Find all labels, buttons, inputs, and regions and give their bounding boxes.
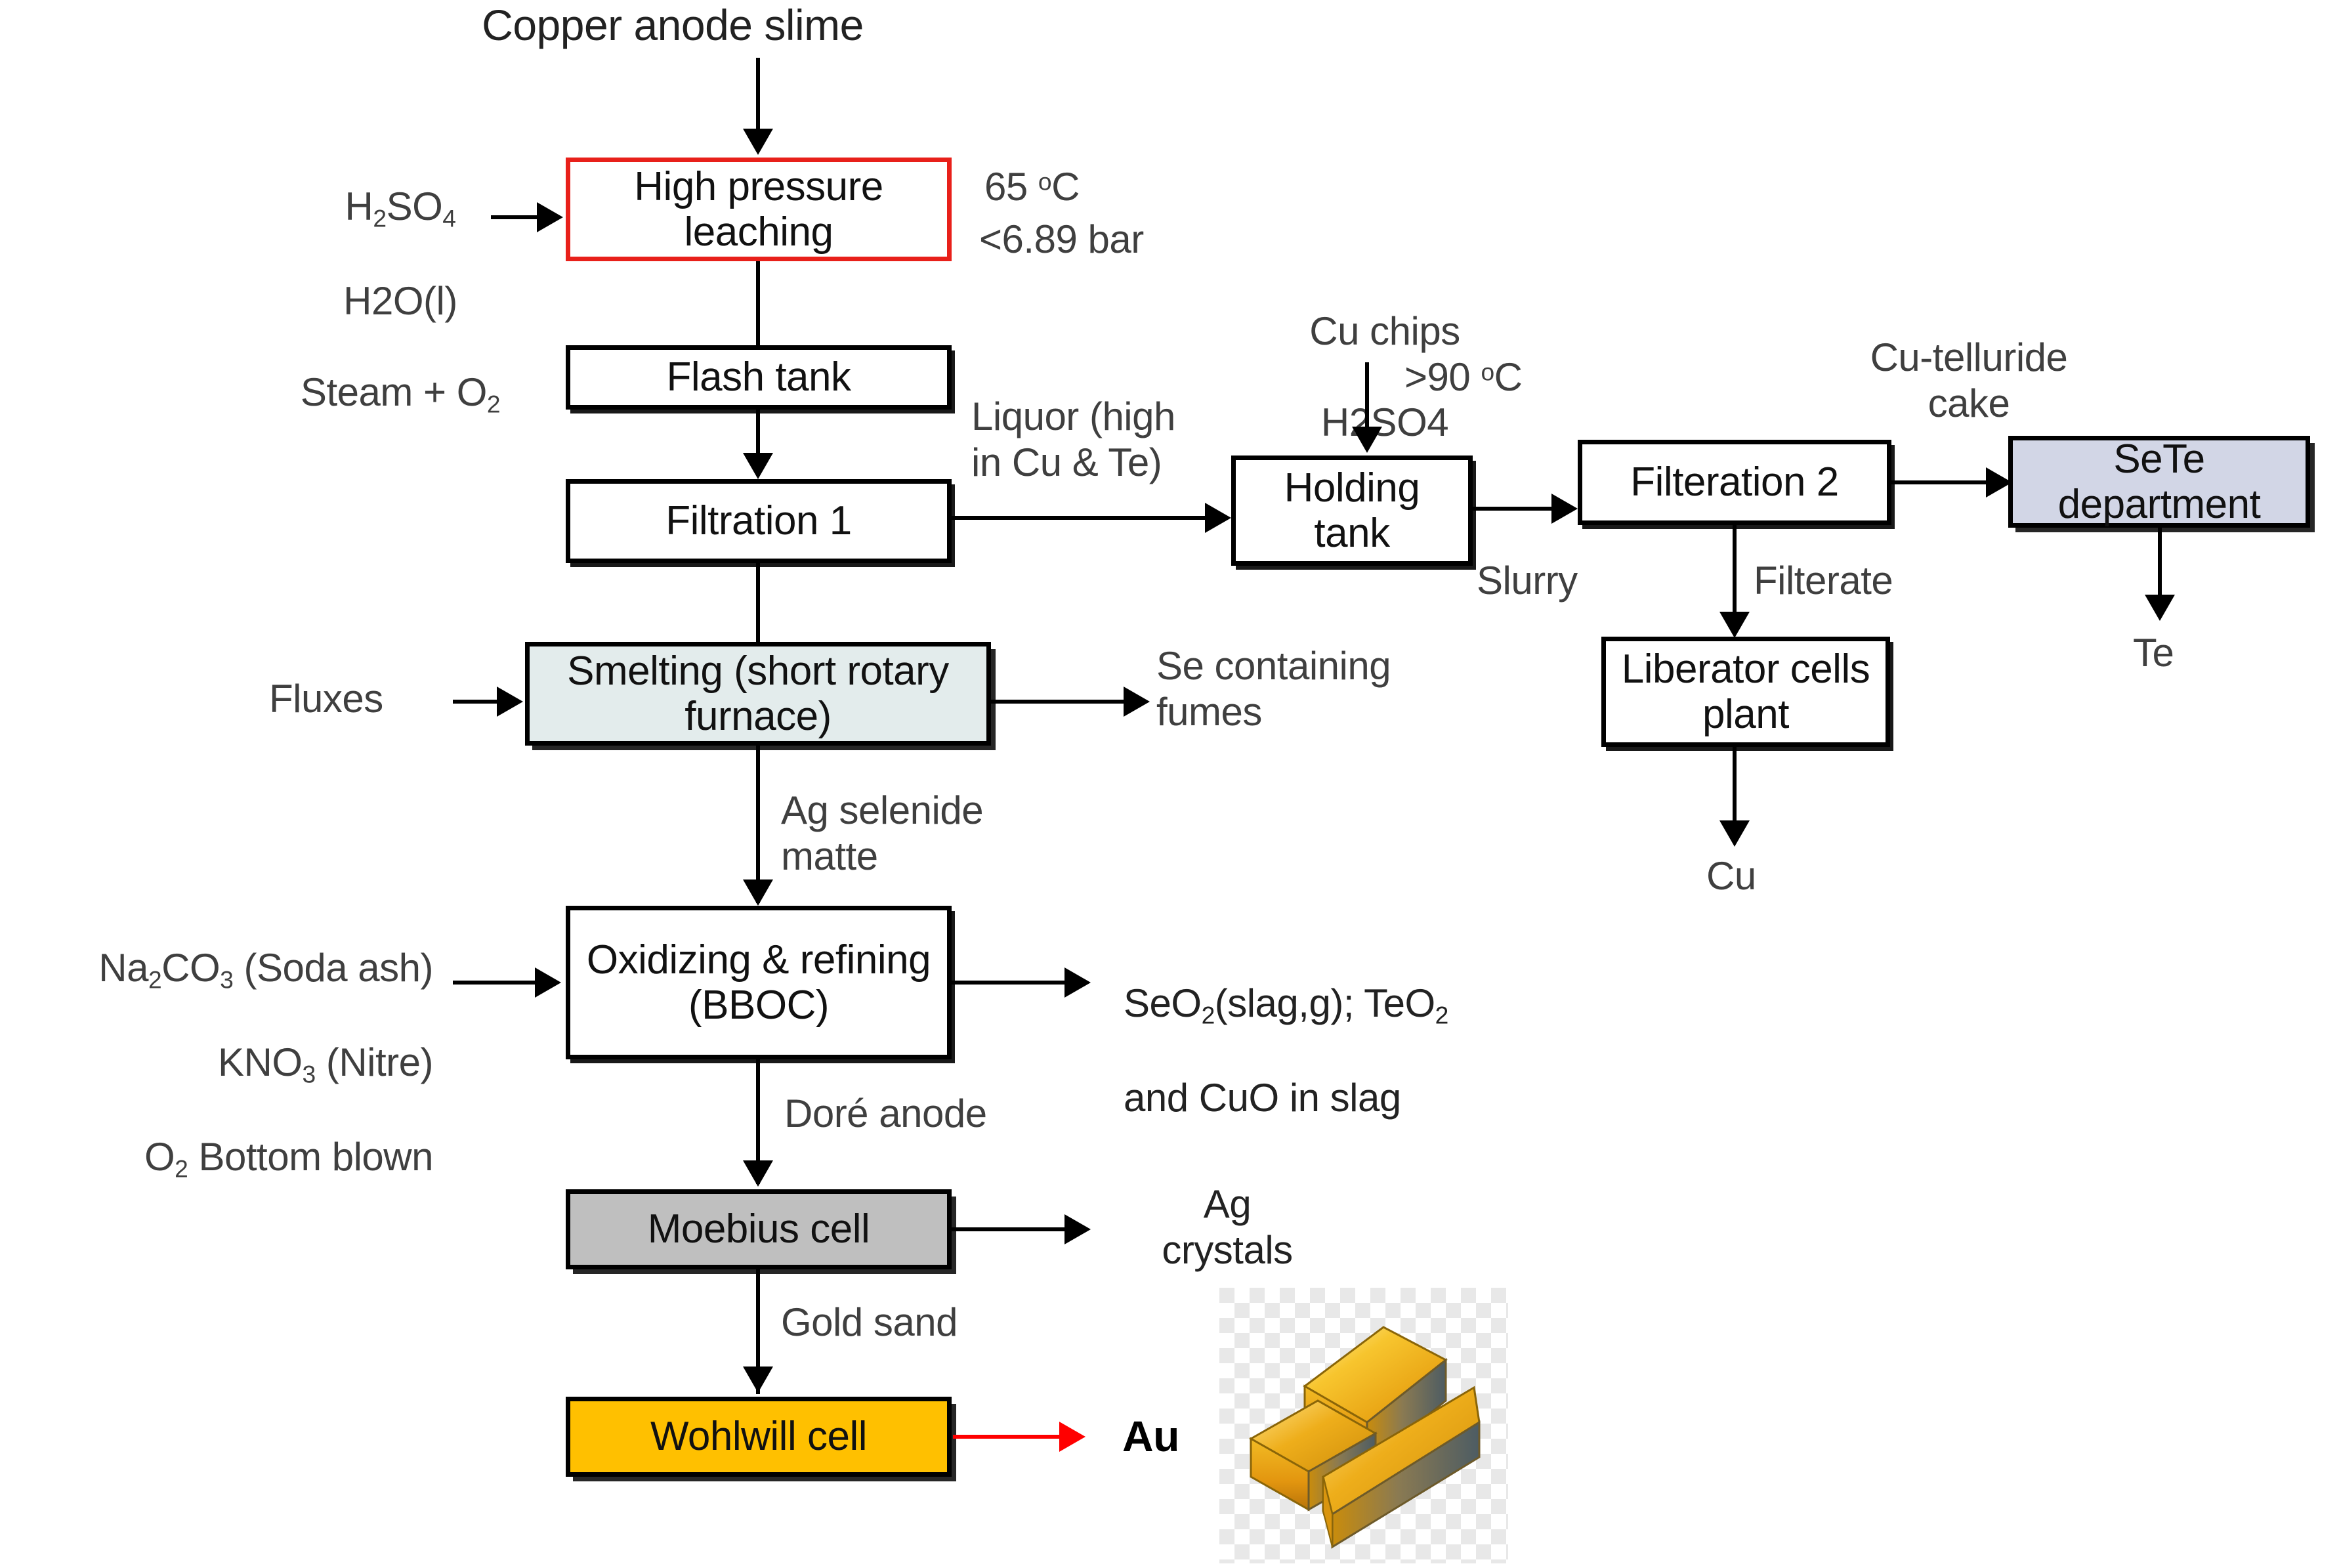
box-filteration-2[interactable]: Filteration 2 [1578,440,1891,525]
stream-gold-sand: Gold sand [781,1300,958,1346]
product-se-containing-fumes: Se containing fumes [1156,643,1498,734]
box-smelting[interactable]: Smelting (short rotary furnace) [525,642,991,746]
stream-filterate: Filterate [1754,558,1893,604]
flowchart-canvas: Copper anode slime High pressure leachin… [0,0,2339,1568]
stream-seo2-line2: and CuO in slag [1124,1075,1583,1121]
box-sete-department-label: SeTe department [2013,436,2306,528]
reagent-h2so4: H2SO4 [263,184,538,233]
stream-seo2-slag: SeO2(slag,g); TeO2 and CuO in slag [1124,935,1583,1166]
reagent-cu-chips: Cu chips [1247,308,1523,354]
connector-moebius-to-ag [952,1227,1070,1231]
arrowhead-moebius-to-wohlwill [743,1367,773,1393]
connector-reagent-to-leaching [491,215,540,219]
box-sete-department[interactable]: SeTe department [2008,436,2310,528]
arrowhead-smelting-to-bboc [743,879,773,906]
reagent-steam-o2: Steam + O2 [263,370,538,419]
stream-dore-anode: Doré anode [784,1091,987,1137]
connector-feed-to-leaching [756,58,760,137]
gold-bars-icon [1219,1288,1508,1563]
arrowhead-reagent-to-leaching [537,202,563,232]
connector-filteration2-to-sete [1891,480,1991,484]
box-filteration-2-label: Filteration 2 [1582,459,1887,505]
reagent-o2-bottom-blown: O2 Bottom blown [13,1134,433,1183]
connector-smelting-to-fumes [991,700,1129,704]
reagent-h2so4-holding: H2SO4 [1247,400,1523,446]
condition-leach-temperature: 65 oC [984,164,1080,210]
stream-liquor-label: Liquor (high in Cu & Te) [971,394,1247,485]
connector-fluxes-to-smelting [453,700,500,704]
product-te: Te [2133,630,2174,676]
box-high-pressure-leaching[interactable]: High pressure leaching [566,158,952,261]
connector-filtration1-to-holding [952,516,1211,520]
product-ag-crystals: Ag crystals [1116,1181,1339,1273]
product-cu: Cu [1706,853,1756,899]
arrowhead-feed-to-leaching [743,129,773,155]
arrowhead-holding-to-filteration2 [1551,494,1578,524]
arrowhead-reagents-to-holding [1352,427,1382,453]
arrowhead-moebius-to-ag [1064,1214,1091,1244]
connector-bboc-reagents [453,981,538,985]
arrowhead-wohlwill-to-au [1059,1422,1085,1452]
box-filtration-1[interactable]: Filtration 1 [566,479,952,563]
box-high-pressure-leaching-label: High pressure leaching [570,164,947,255]
arrowhead-fluxes-to-smelting [497,687,523,717]
arrowhead-bboc-to-moebius [743,1160,773,1187]
reagent-soda-ash: Na2CO3 (Soda ash) [13,945,433,994]
connector-filtration1-to-smelting [756,563,760,642]
box-flash-tank[interactable]: Flash tank [566,345,952,410]
arrowhead-bboc-reagents [535,967,561,998]
reagent-group-bboc: Na2CO3 (Soda ash) KNO3 (Nitre) O2 Bottom… [13,899,433,1229]
stream-seo2-line1: SeO2(slag,g); TeO2 [1124,981,1583,1030]
connector-wohlwill-to-au [953,1435,1064,1439]
box-oxidizing-refining-bboc[interactable]: Oxidizing & refining (BBOC) [566,906,952,1059]
box-wohlwill-cell[interactable]: Wohlwill cell [566,1397,952,1477]
arrowhead-bboc-to-slag [1064,967,1091,998]
reagent-h2o: H2O(l) [263,278,538,324]
stream-ag-selenide-matte: Ag selenide matte [781,788,1057,879]
condition-holding-tank-temperature: >90 oC [1404,354,1522,400]
box-wohlwill-cell-label: Wohlwill cell [570,1414,947,1459]
box-liberator-cells-plant-label: Liberator cells plant [1606,646,1886,738]
reagent-group-leaching: H2SO4 H2O(l) Steam + O2 [263,138,538,464]
arrowhead-smelting-to-fumes [1124,687,1150,717]
connector-leaching-to-flash [756,261,760,345]
arrowhead-liberator-to-cu [1719,820,1750,847]
box-oxidizing-refining-bboc-label: Oxidizing & refining (BBOC) [570,937,947,1028]
box-moebius-cell-label: Moebius cell [570,1206,947,1252]
box-flash-tank-label: Flash tank [570,354,947,400]
box-filtration-1-label: Filtration 1 [570,498,947,543]
arrowhead-filteration2-to-liberator [1719,612,1750,638]
box-holding-tank-label: Holding tank [1236,465,1468,557]
arrowhead-flash-to-filtration1 [743,453,773,479]
box-smelting-label: Smelting (short rotary furnace) [530,648,986,740]
connector-holding-to-filteration2 [1473,507,1558,511]
reagent-fluxes: Fluxes [269,676,383,722]
box-liberator-cells-plant[interactable]: Liberator cells plant [1601,637,1890,747]
feed-label-copper-anode-slime: Copper anode slime [459,0,886,51]
product-au: Au [1122,1411,1179,1462]
stream-cu-telluride-cake: Cu-telluride cake [1798,335,2139,426]
condition-leach-pressure: <6.89 bar [979,217,1144,263]
arrowhead-filtration1-to-holding [1205,503,1231,533]
box-holding-tank[interactable]: Holding tank [1231,456,1473,566]
stream-slurry: Slurry [1477,558,1578,604]
reagent-nitre: KNO3 (Nitre) [13,1040,433,1089]
connector-bboc-to-slag [952,981,1070,985]
box-moebius-cell[interactable]: Moebius cell [566,1189,952,1269]
arrowhead-sete-to-te [2145,595,2175,621]
